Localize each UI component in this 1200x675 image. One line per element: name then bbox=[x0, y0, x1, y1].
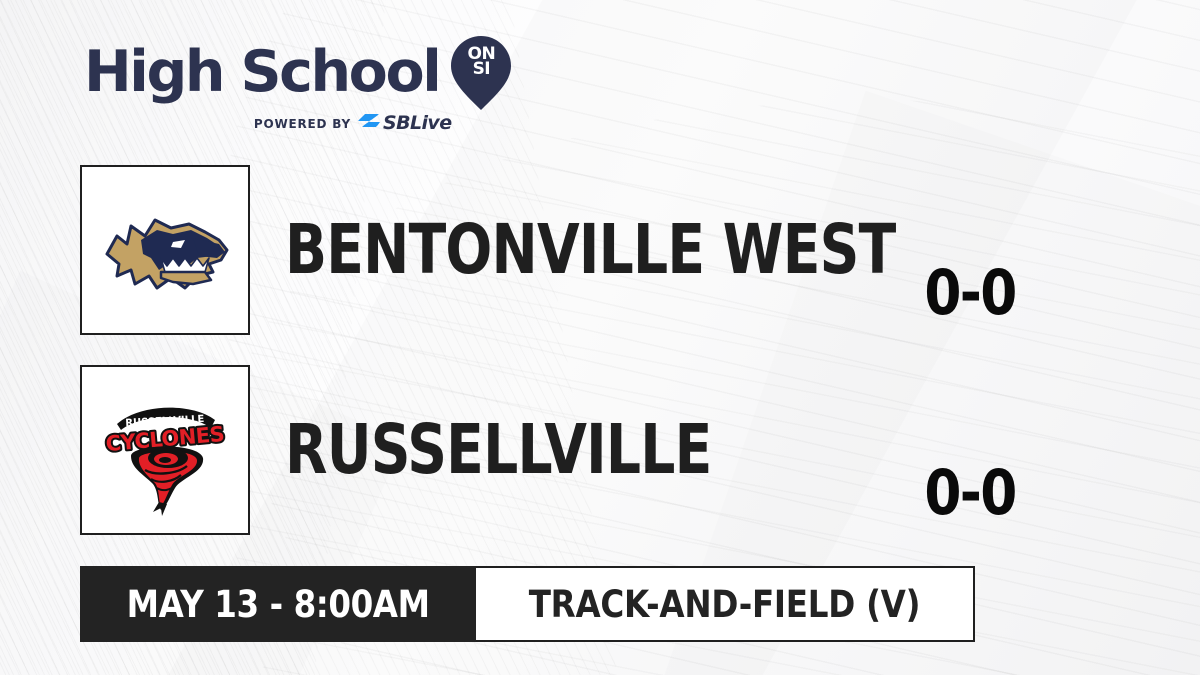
pin-label-line2: SI bbox=[451, 62, 511, 77]
team-name: RUSSELLVILLE bbox=[285, 416, 712, 485]
location-pin-icon: ON SI bbox=[451, 36, 511, 110]
powered-by-lockup: POWERED BY SBLive bbox=[194, 114, 511, 133]
russellville-cyclones-tornado-logo: RUSSELLVILLE CYCLONES CYCLONES bbox=[95, 380, 235, 520]
game-sport-text: TRACK-AND-FIELD (V) bbox=[529, 583, 921, 626]
team-logo-box bbox=[80, 165, 250, 335]
game-datetime-block: MAY 13 - 8:00AM bbox=[80, 566, 476, 642]
game-datetime-text: MAY 13 - 8:00AM bbox=[127, 583, 430, 626]
team-logo-box: RUSSELLVILLE CYCLONES CYCLONES bbox=[80, 365, 250, 535]
sblive-wordmark: SBLive bbox=[383, 114, 451, 133]
sblive-bolt-icon bbox=[358, 114, 380, 133]
brand-lockup: High School ON SI bbox=[84, 36, 511, 110]
game-sport-block: TRACK-AND-FIELD (V) bbox=[476, 566, 975, 642]
sblive-logo: SBLive bbox=[358, 114, 451, 133]
team-row: RUSSELLVILLE CYCLONES CYCLONES bbox=[80, 365, 818, 535]
team-record: 0-0 bbox=[884, 462, 1056, 524]
pin-label: ON SI bbox=[451, 47, 511, 77]
matchup-graphic: High School ON SI POWERED BY SBLive bbox=[0, 0, 1200, 675]
brand-wordmark: High School bbox=[84, 45, 439, 101]
team-record: 0-0 bbox=[884, 262, 1056, 324]
game-info-bar: MAY 13 - 8:00AM TRACK-AND-FIELD (V) bbox=[80, 566, 975, 642]
powered-by-label: POWERED BY bbox=[254, 117, 351, 131]
team-name: BENTONVILLE WEST bbox=[285, 216, 896, 285]
brand-header: High School ON SI POWERED BY SBLive bbox=[84, 36, 511, 133]
bentonville-west-wolverine-logo bbox=[95, 180, 235, 320]
